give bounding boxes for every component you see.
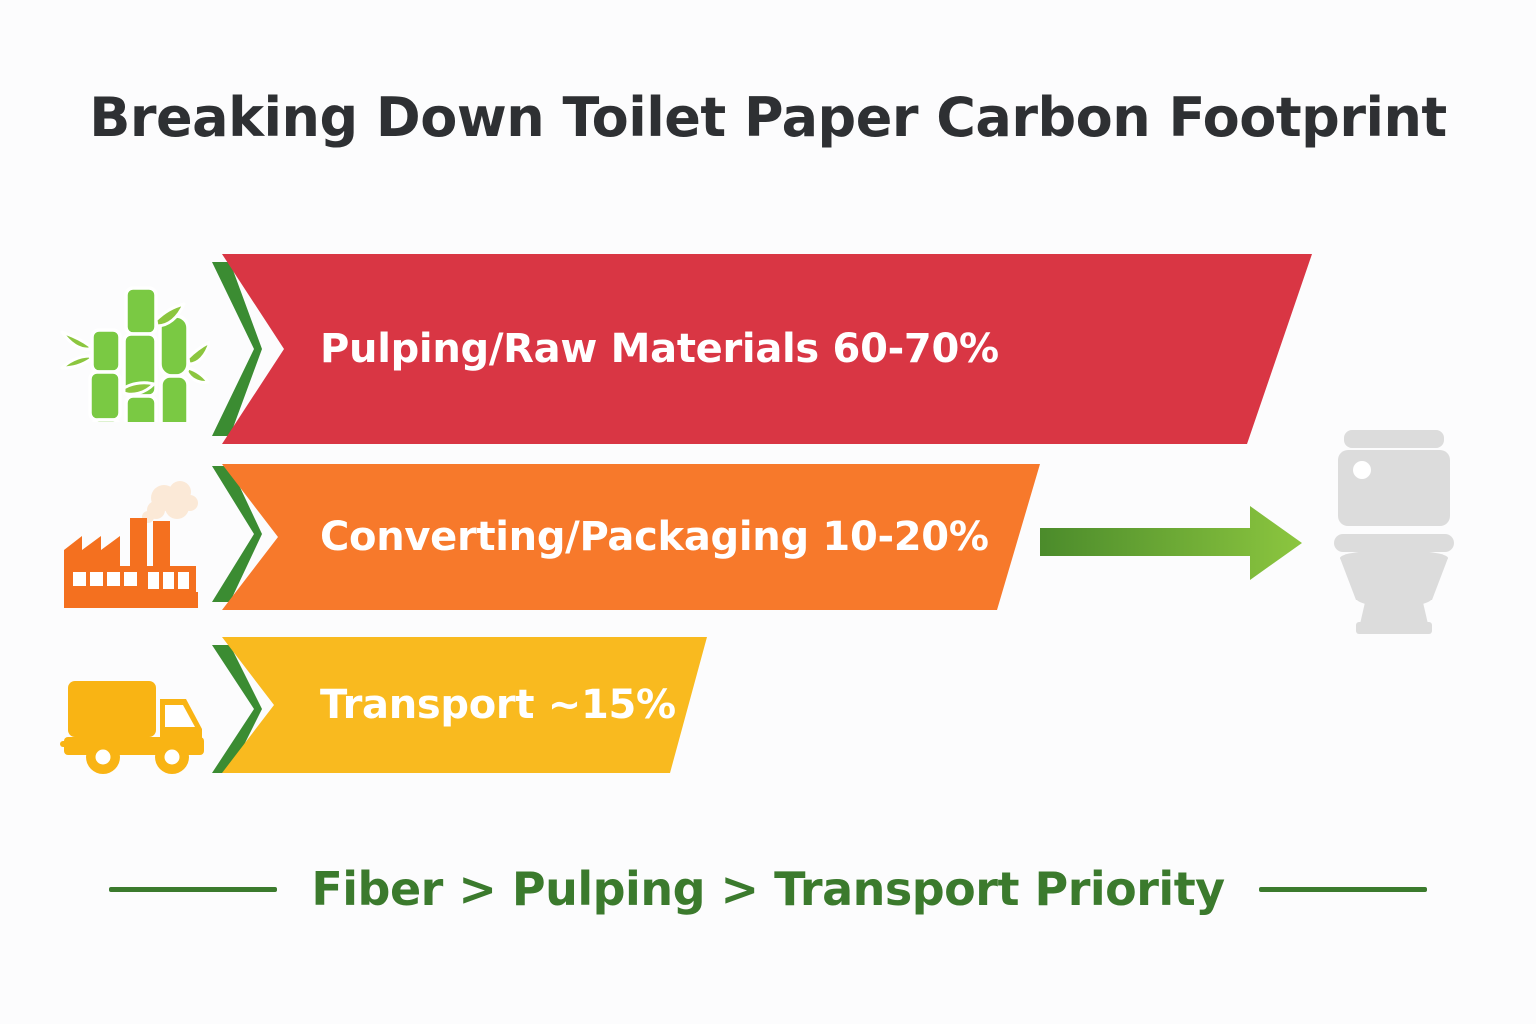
- page-title: Breaking Down Toilet Paper Carbon Footpr…: [0, 86, 1536, 149]
- stage-label-converting: Converting/Packaging 10-20%: [222, 462, 989, 612]
- stage-banner-transport[interactable]: Transport ~15%: [222, 635, 712, 775]
- toilet-icon: [1318, 424, 1470, 643]
- stage-banner-pulping[interactable]: Pulping/Raw Materials 60-70%: [222, 252, 1312, 446]
- flow-arrow-icon: [1040, 504, 1302, 587]
- truck-icon: [55, 647, 215, 807]
- footer-priority-text: Fiber > Pulping > Transport Priority: [311, 862, 1224, 916]
- stage-label-pulping: Pulping/Raw Materials 60-70%: [222, 252, 999, 446]
- footer-rule-right: [1259, 887, 1427, 892]
- bamboo-icon: [55, 267, 215, 427]
- stage-label-transport: Transport ~15%: [222, 635, 676, 775]
- stage-banner-converting[interactable]: Converting/Packaging 10-20%: [222, 462, 1042, 612]
- footer-rule-left: [109, 887, 277, 892]
- infographic-canvas: Breaking Down Toilet Paper Carbon Footpr…: [0, 0, 1536, 1024]
- factory-icon: [55, 464, 215, 624]
- footer-tagline: Fiber > Pulping > Transport Priority: [0, 862, 1536, 916]
